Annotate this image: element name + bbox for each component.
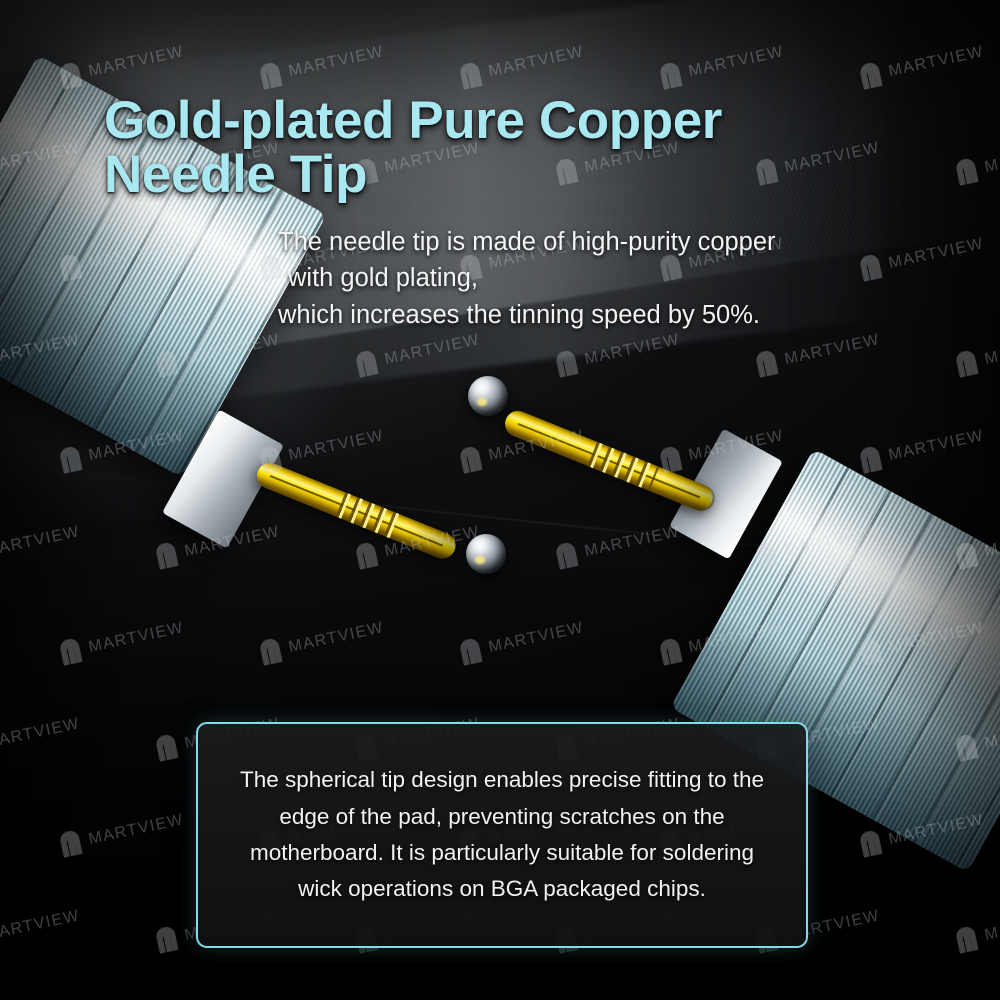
subtitle-line-1: The needle tip is made of high-purity co… bbox=[278, 228, 776, 256]
subtitle-block: The needle tip is made of high-purity co… bbox=[278, 224, 938, 333]
page-title-line-2: Needle Tip bbox=[104, 148, 934, 203]
callout-text: The spherical tip design enables precise… bbox=[237, 762, 767, 908]
subtitle-line-3: which increases the tinning speed by 50%… bbox=[278, 297, 938, 333]
page-title: Gold-plated Pure Copper Needle Tip bbox=[104, 94, 934, 203]
page-title-line-1: Gold-plated Pure Copper bbox=[104, 91, 722, 150]
callout-box: The spherical tip design enables precise… bbox=[196, 722, 808, 948]
product-feature-banner: MARTVIEWMARTVIEWMARTVIEWMARTVIEWMARTVIEW… bbox=[0, 0, 1000, 1000]
subtitle-line-2: with gold plating, bbox=[278, 260, 938, 296]
